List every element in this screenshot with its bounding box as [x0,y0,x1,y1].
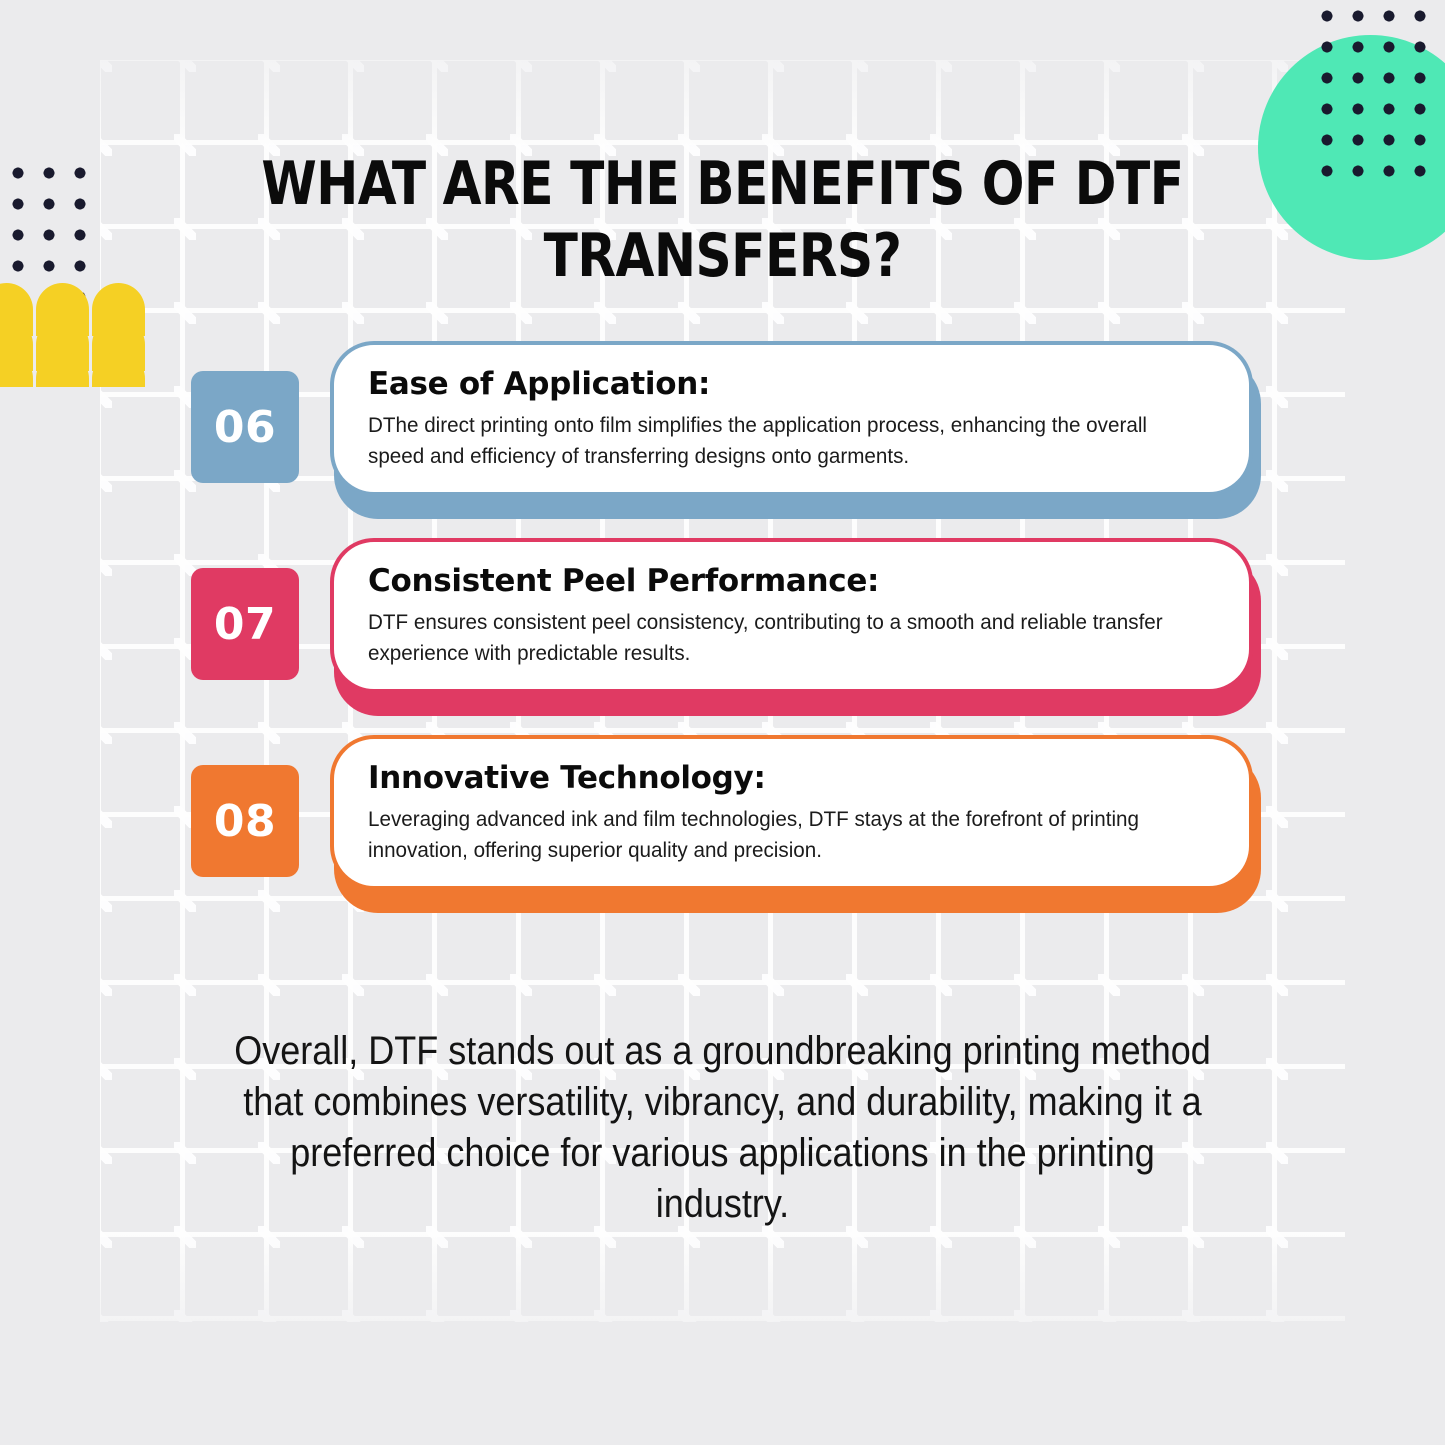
infographic-page: WHAT ARE THE BENEFITS OF DTF TRANSFERS? … [0,0,1445,1445]
number-badge-08: 08 [191,765,299,877]
benefit-row-08: Innovative Technology: Leveraging advanc… [191,735,1261,900]
card-body: Leveraging advanced ink and film technol… [368,804,1181,866]
card-body: DTF ensures consistent peel consistency,… [368,607,1181,669]
card-heading: Ease of Application: [368,364,1215,404]
semicircle-row [0,318,148,353]
number-badge-07: 07 [191,568,299,680]
benefit-row-07: Consistent Peel Performance: DTF ensures… [191,538,1261,703]
card-body: DThe direct printing onto film simplifie… [368,410,1181,472]
mint-circle-decoration [1258,35,1445,260]
semicircle-row [0,352,148,387]
card-heading: Innovative Technology: [368,758,1215,798]
benefit-row-06: Ease of Application: DThe direct printin… [191,341,1261,506]
card-heading: Consistent Peel Performance: [368,561,1215,601]
benefit-card: Consistent Peel Performance: DTF ensures… [330,538,1253,693]
benefit-card: Innovative Technology: Leveraging advanc… [330,735,1253,890]
summary-paragraph: Overall, DTF stands out as a groundbreak… [230,1026,1216,1230]
yellow-semicircles-decoration [0,283,148,387]
page-title: WHAT ARE THE BENEFITS OF DTF TRANSFERS? [213,148,1231,292]
semicircle-row [0,283,148,318]
benefit-card: Ease of Application: DThe direct printin… [330,341,1253,496]
number-badge-06: 06 [191,371,299,483]
